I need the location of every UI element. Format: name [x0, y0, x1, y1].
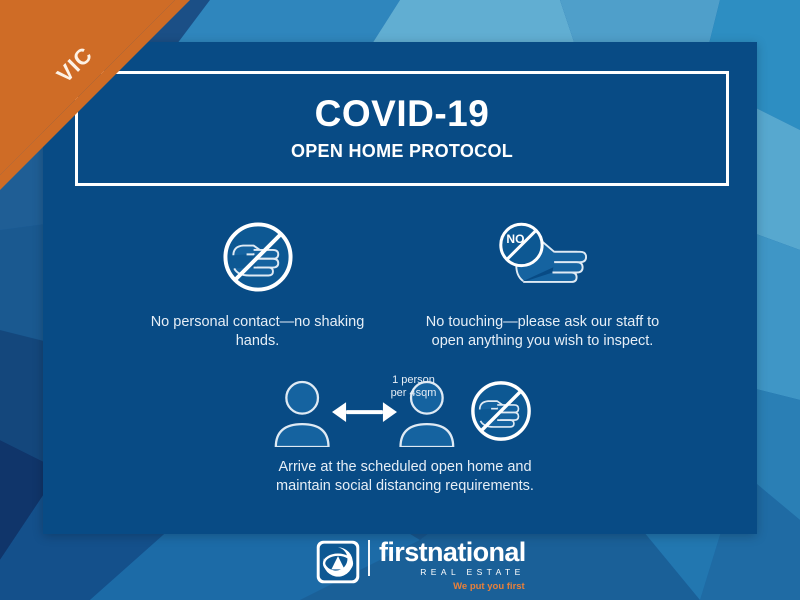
logo-divider: [368, 540, 370, 576]
brand-tagline: We put you first: [379, 581, 526, 592]
protocol-caption: No personal contact—no shaking hands.: [140, 313, 375, 352]
protocol-row-bottom: 1 person per 4sqm: [255, 375, 555, 452]
logo-wordmark: firstnational REAL ESTATE We put you fir…: [379, 540, 526, 592]
protocol-no-touching: NO No touching—please ask our staff to o…: [425, 213, 660, 352]
protocol-caption: No touching—please ask our staff to open…: [425, 313, 660, 352]
brand-subtitle: REAL ESTATE: [379, 567, 526, 577]
social-distancing-group: 1 person per 4sqm: [272, 375, 457, 452]
protocol-no-handshake: No personal contact—no shaking hands.: [140, 213, 375, 352]
poster-canvas: COVID-19 OPEN HOME PROTOCOL VIC: [0, 0, 800, 600]
protocol-row-top: No personal contact—no shaking hands. NO…: [140, 213, 660, 352]
occupancy-badge: 1 person per 4sqm: [375, 374, 453, 401]
brand-name: firstnational: [379, 540, 526, 566]
no-touching-hand-icon: NO: [487, 213, 599, 301]
occupancy-line-1: 1 person: [375, 374, 453, 387]
occupancy-line-2: per 4sqm: [375, 387, 453, 400]
no-handshake-icon: [463, 373, 539, 449]
protocol-caption: Arrive at the scheduled open home and ma…: [255, 458, 555, 497]
first-national-swirl-logo: [316, 540, 360, 584]
page-title: COVID-19: [315, 95, 490, 134]
page-subtitle: OPEN HOME PROTOCOL: [291, 141, 513, 162]
no-handshake-icon: [214, 213, 302, 301]
svg-text:NO: NO: [506, 232, 524, 246]
title-block: COVID-19 OPEN HOME PROTOCOL: [75, 71, 729, 186]
first-national-logo: firstnational REAL ESTATE We put you fir…: [316, 540, 526, 592]
